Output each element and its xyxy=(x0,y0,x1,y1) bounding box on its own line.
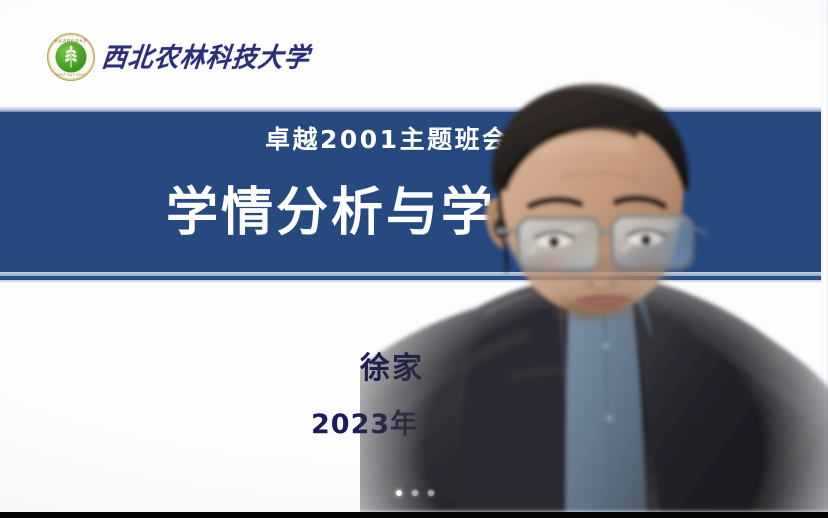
presenter-camera-feed[interactable] xyxy=(360,78,828,512)
wheat-plant-icon xyxy=(56,42,87,73)
university-seal-icon: 西北农林科技大学 NORTHWES xyxy=(47,33,95,81)
pagination-dot[interactable] xyxy=(428,490,434,496)
seal-ring-bottom-text: NORTHWEST A&F UNIVERSITY xyxy=(47,73,95,77)
screen-share-viewport: 西北农林科技大学 NORTHWES xyxy=(0,0,828,518)
pagination-dot[interactable] xyxy=(412,490,418,496)
recording-letterbox-bar xyxy=(0,512,828,518)
earphone-cable xyxy=(502,238,507,272)
jacket-right-shoulder xyxy=(628,276,828,512)
university-logo-lockup: 西北农林科技大学 NORTHWES xyxy=(47,33,310,81)
slide-pagination-dots[interactable] xyxy=(396,490,434,496)
university-wordmark: 西北农林科技大学 xyxy=(101,44,312,71)
pagination-dot[interactable] xyxy=(396,490,402,496)
